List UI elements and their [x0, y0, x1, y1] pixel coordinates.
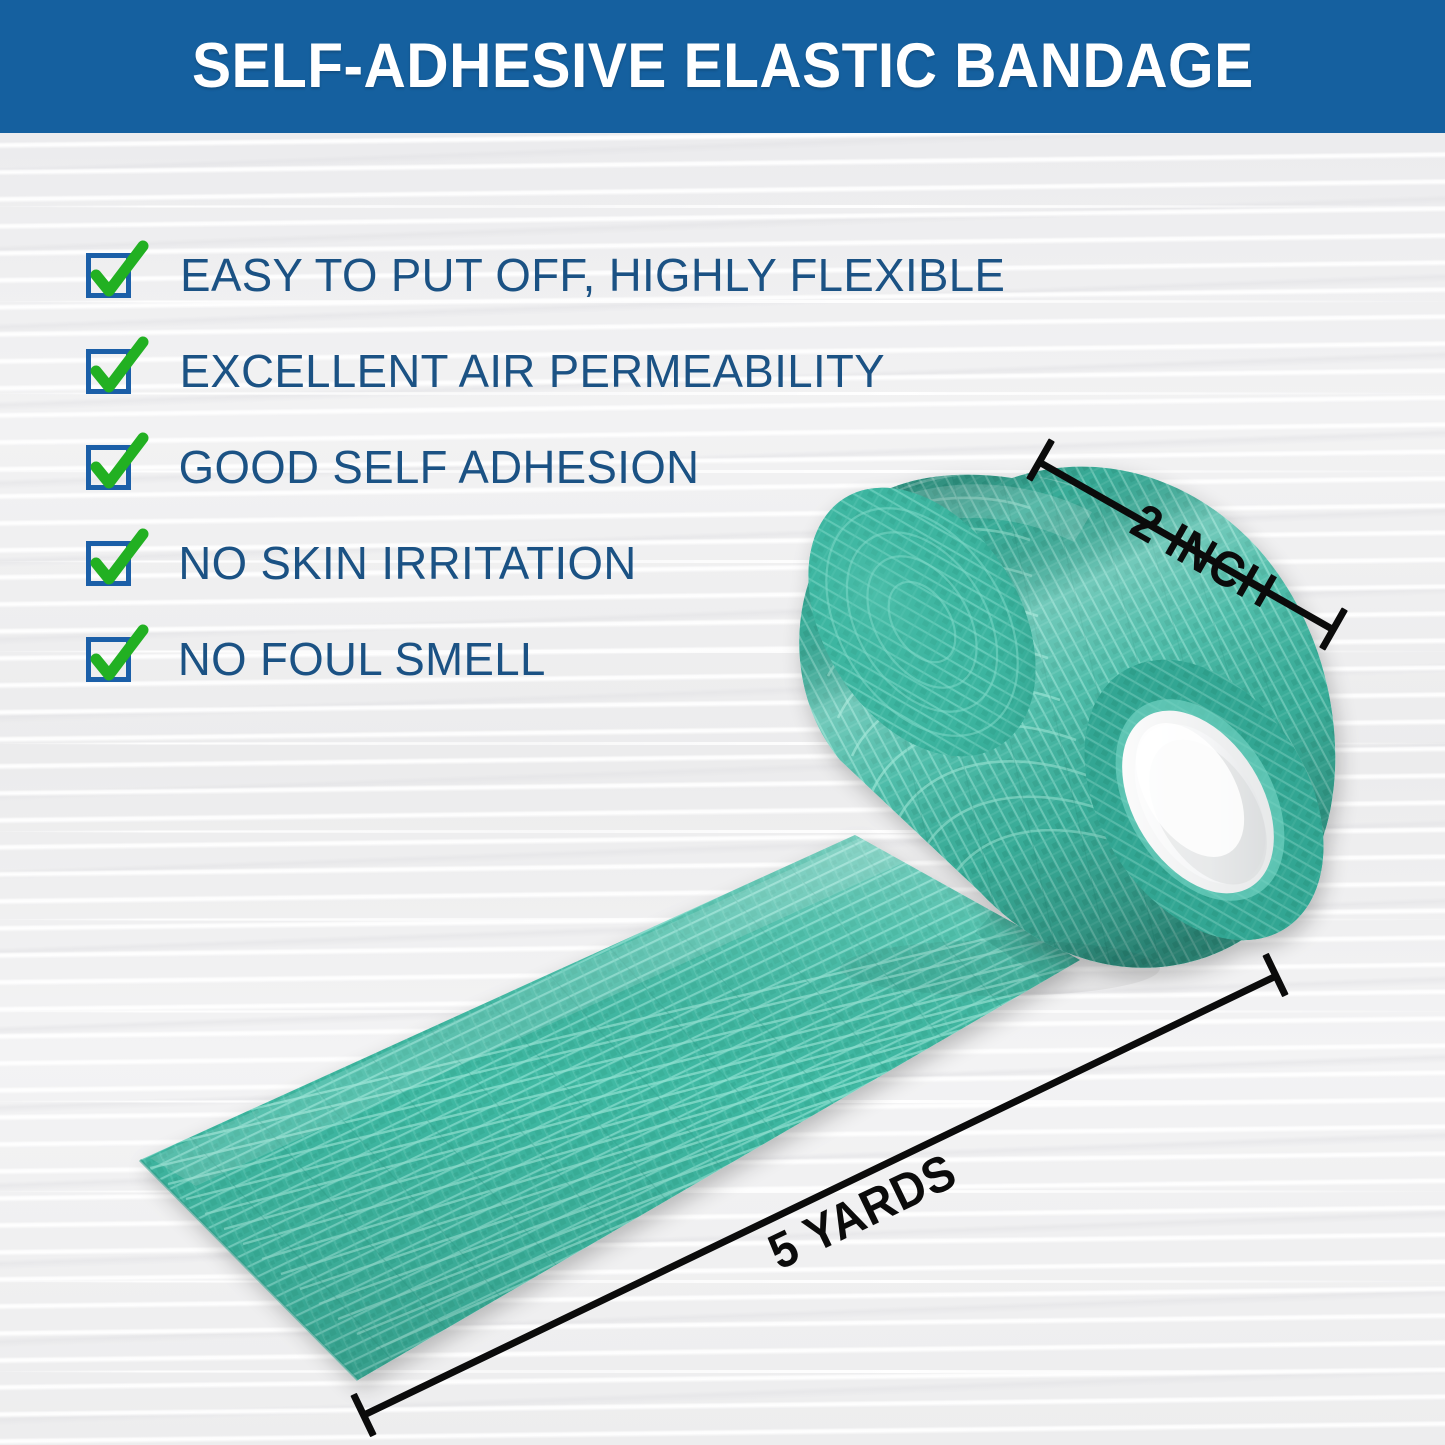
bandage-illustration: [0, 0, 1445, 1445]
list-item: EXCELLENT AIR PERMEABILITY: [86, 323, 1009, 419]
feature-list: EASY TO PUT OFF, HIGHLY FLEXIBLE EXCELLE…: [86, 227, 1009, 707]
list-item-label: GOOD SELF ADHESION: [179, 444, 700, 490]
checked-checkbox-icon: [86, 445, 131, 490]
product-infographic: SELF-ADHESIVE ELASTIC BANDAGE EASY TO PU…: [0, 0, 1445, 1445]
checked-checkbox-icon: [86, 541, 131, 586]
checked-checkbox-icon: [86, 349, 131, 394]
list-item-label: NO FOUL SMELL: [178, 636, 546, 682]
header-banner: SELF-ADHESIVE ELASTIC BANDAGE: [0, 0, 1445, 133]
list-item-label: NO SKIN IRRITATION: [178, 540, 636, 586]
checked-checkbox-icon: [86, 253, 131, 298]
list-item: EASY TO PUT OFF, HIGHLY FLEXIBLE: [86, 227, 1009, 323]
list-item-label: EXCELLENT AIR PERMEABILITY: [180, 348, 885, 394]
list-item: GOOD SELF ADHESION: [86, 419, 1009, 515]
page-title: SELF-ADHESIVE ELASTIC BANDAGE: [192, 35, 1254, 98]
list-item: NO FOUL SMELL: [86, 611, 1009, 707]
list-item-label: EASY TO PUT OFF, HIGHLY FLEXIBLE: [180, 252, 1005, 298]
checked-checkbox-icon: [86, 637, 131, 682]
list-item: NO SKIN IRRITATION: [86, 515, 1009, 611]
